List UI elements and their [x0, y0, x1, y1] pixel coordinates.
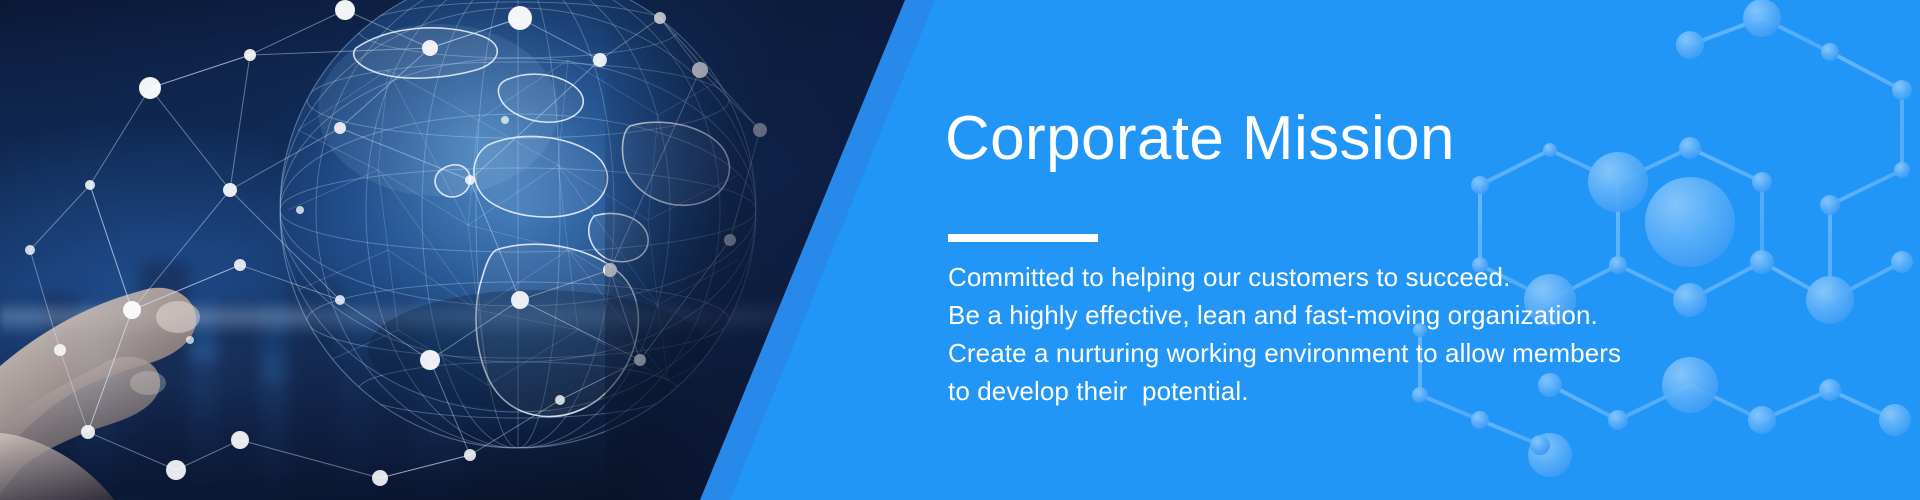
mission-statement: Committed to helping our customers to su…	[948, 258, 1688, 410]
mission-line: to develop their potential.	[948, 372, 1688, 410]
corporate-mission-banner: Corporate Mission Committed to helping o…	[0, 0, 1920, 500]
mission-line: Committed to helping our customers to su…	[948, 258, 1688, 296]
mission-line: Create a nurturing working environment t…	[948, 334, 1688, 372]
title-divider	[948, 234, 1098, 242]
page-title: Corporate Mission	[945, 108, 1455, 170]
mission-line: Be a highly effective, lean and fast-mov…	[948, 296, 1688, 334]
mission-content: Corporate Mission Committed to helping o…	[945, 0, 1685, 500]
